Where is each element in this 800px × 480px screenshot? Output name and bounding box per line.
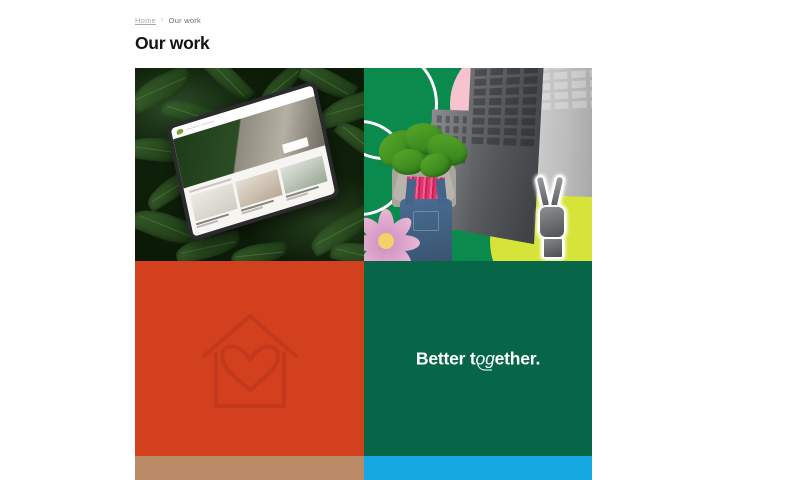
- hand-palm: [538, 205, 566, 239]
- breadcrumb: Home › Our work: [135, 0, 592, 25]
- better-together-lockup: Better together.: [364, 348, 592, 369]
- work-grid: Better together.: [135, 68, 592, 480]
- hand-wrist: [542, 237, 564, 259]
- page-header: Home › Our work Our work: [135, 0, 592, 53]
- foliage-leaf-icon: [230, 241, 288, 261]
- chard-leaves-icon: [376, 121, 472, 185]
- collage-flower-icon: [364, 203, 424, 261]
- flower-center: [378, 233, 394, 249]
- foliage-leaf-icon: [333, 116, 364, 169]
- work-tile-collage-community[interactable]: [364, 68, 592, 261]
- work-tile-house-heart[interactable]: [135, 261, 364, 456]
- page-title: Our work: [135, 34, 592, 53]
- mockup-nav-link: [186, 125, 199, 130]
- mockup-product-card: [280, 156, 329, 201]
- headline-part-after: ether.: [495, 348, 541, 368]
- breadcrumb-separator-icon: ›: [161, 17, 164, 24]
- mockup-logo-icon: [176, 128, 184, 135]
- page-root: Home › Our work Our work: [0, 0, 800, 480]
- mockup-product-image: [235, 169, 283, 207]
- mockup-nav-link: [201, 120, 214, 125]
- collage-peace-sign-hand-icon: [526, 175, 580, 255]
- breadcrumb-current: Our work: [169, 16, 201, 25]
- work-tile-tan-strip[interactable]: [135, 456, 364, 480]
- better-together-headline: Better together.: [416, 348, 540, 369]
- mockup-product-image: [280, 156, 328, 194]
- headline-og-ligature: og: [476, 348, 495, 369]
- house-heart-icon: [194, 308, 306, 416]
- headline-part-before: Better t: [416, 348, 476, 368]
- mockup-hero-card: [282, 137, 309, 153]
- work-tile-better-together[interactable]: Better together.: [364, 261, 592, 456]
- mockup-product-card: [235, 169, 284, 214]
- work-tile-tablet-plants[interactable]: [135, 68, 364, 261]
- work-tile-blue-strip[interactable]: [364, 456, 592, 480]
- breadcrumb-link-home[interactable]: Home: [135, 16, 156, 25]
